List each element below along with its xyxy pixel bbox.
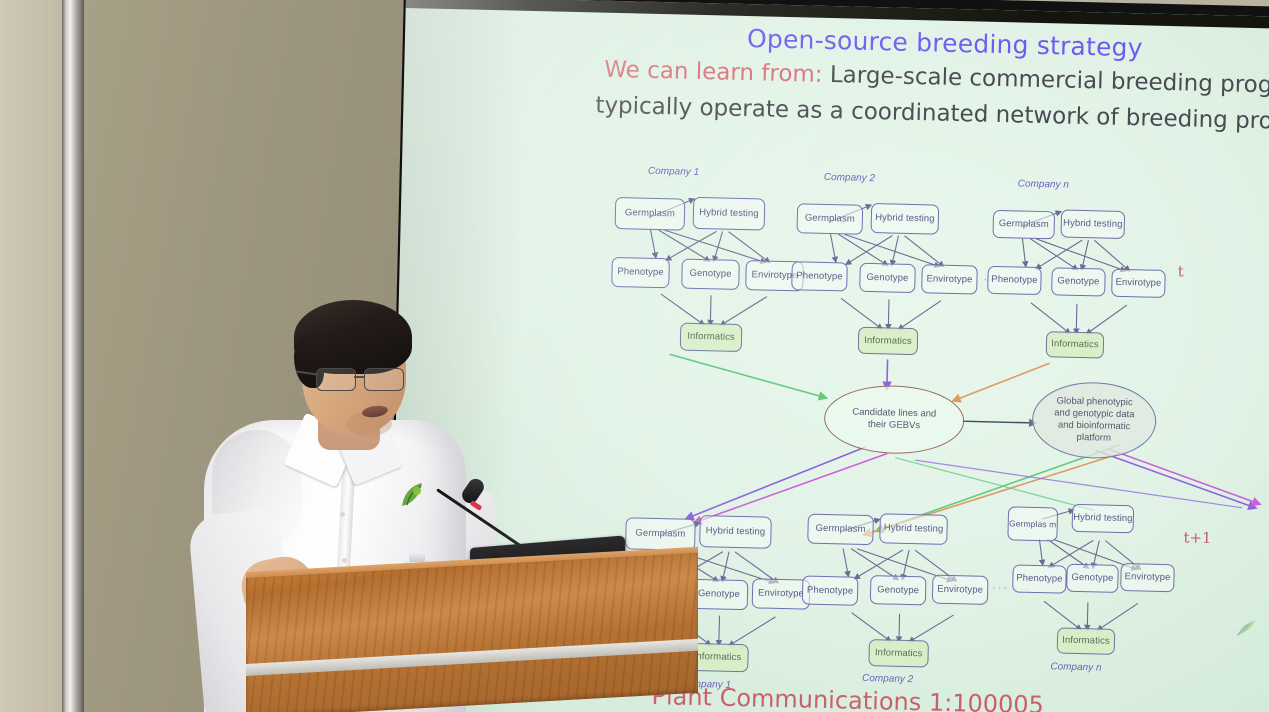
shirt-logo-icon [396, 478, 430, 512]
node-germplasm-t2: Germplasm [797, 203, 864, 235]
hub-candidate-line-2: their GEBVs [852, 419, 936, 433]
node-informatics-b2: Informatics [868, 639, 929, 667]
node-envirotype-tn: Envirotype [1111, 269, 1166, 298]
bottle-cap [409, 552, 425, 562]
node-germplasm-t1: Germplasm [615, 197, 686, 231]
node-phenotype-bn: Phenotype [1012, 564, 1067, 593]
time-label-t: t [1178, 262, 1184, 280]
presenter-glasses [316, 368, 410, 390]
node-genotype-t1: Genotype [681, 259, 740, 290]
node-envirotype-bn: Envirotype [1120, 563, 1175, 592]
metal-trim-strip [62, 0, 84, 712]
shirt-button [340, 512, 345, 517]
node-hybrid-testing-tn: Hybrid testing [1060, 209, 1125, 239]
podium [246, 553, 698, 712]
company-label-top-2: Company 2 [824, 172, 875, 184]
node-germplasm-b1: Germplasm [625, 517, 696, 551]
glasses-lens-right [364, 368, 404, 391]
presentation-photo: Open-source breeding strategy We can lea… [0, 0, 1269, 712]
node-hybrid-testing-b1: Hybrid testing [699, 515, 772, 549]
company-label-bottom-2: Company 2 [862, 673, 913, 685]
node-informatics-t2: Informatics [858, 327, 919, 355]
company-label-top-1: Company 1 [648, 166, 699, 178]
podium-wood-grain [246, 553, 698, 712]
node-envirotype-t2: Envirotype [921, 264, 978, 294]
node-hybrid-testing-t2: Hybrid testing [871, 203, 940, 235]
hub-global-line-4: platform [1053, 431, 1134, 445]
node-hybrid-testing-t1: Hybrid testing [693, 197, 766, 231]
glasses-lens-left [316, 368, 356, 391]
node-phenotype-t2: Phenotype [791, 261, 848, 291]
node-genotype-b1: Genotype [690, 579, 749, 610]
node-hybrid-testing-bn: Hybrid testing [1072, 504, 1135, 533]
node-informatics-t1: Informatics [680, 323, 743, 352]
node-genotype-b2: Genotype [870, 575, 927, 605]
node-phenotype-tn: Phenotype [987, 266, 1042, 295]
node-informatics-tn: Informatics [1046, 331, 1105, 358]
slide-watermark-logo [1233, 616, 1260, 643]
node-informatics-bn: Informatics [1057, 628, 1116, 655]
hub-candidate-line-1: Candidate lines and [852, 407, 936, 421]
node-germplasm-b2: Germplasm [807, 514, 874, 546]
company-label-top-n: Company n [1018, 178, 1069, 190]
glasses-bridge [354, 376, 364, 378]
node-envirotype-b2: Envirotype [932, 575, 989, 605]
node-phenotype-t1: Phenotype [611, 257, 670, 288]
node-germplasm-bn: Germplas m [1007, 506, 1058, 541]
node-germplasm-tn: Germplasm [992, 210, 1055, 239]
node-genotype-tn: Genotype [1051, 267, 1106, 296]
node-genotype-bn: Genotype [1066, 564, 1119, 593]
node-genotype-t2: Genotype [859, 263, 916, 293]
company-label-bottom-n: Company n [1050, 661, 1101, 673]
node-hybrid-testing-b2: Hybrid testing [879, 513, 948, 545]
time-label-t-plus-1: t+1 [1183, 528, 1212, 547]
shirt-button [342, 558, 347, 563]
hub-global-line-3: and bioinformatic [1054, 419, 1135, 433]
node-phenotype-b2: Phenotype [802, 576, 859, 606]
